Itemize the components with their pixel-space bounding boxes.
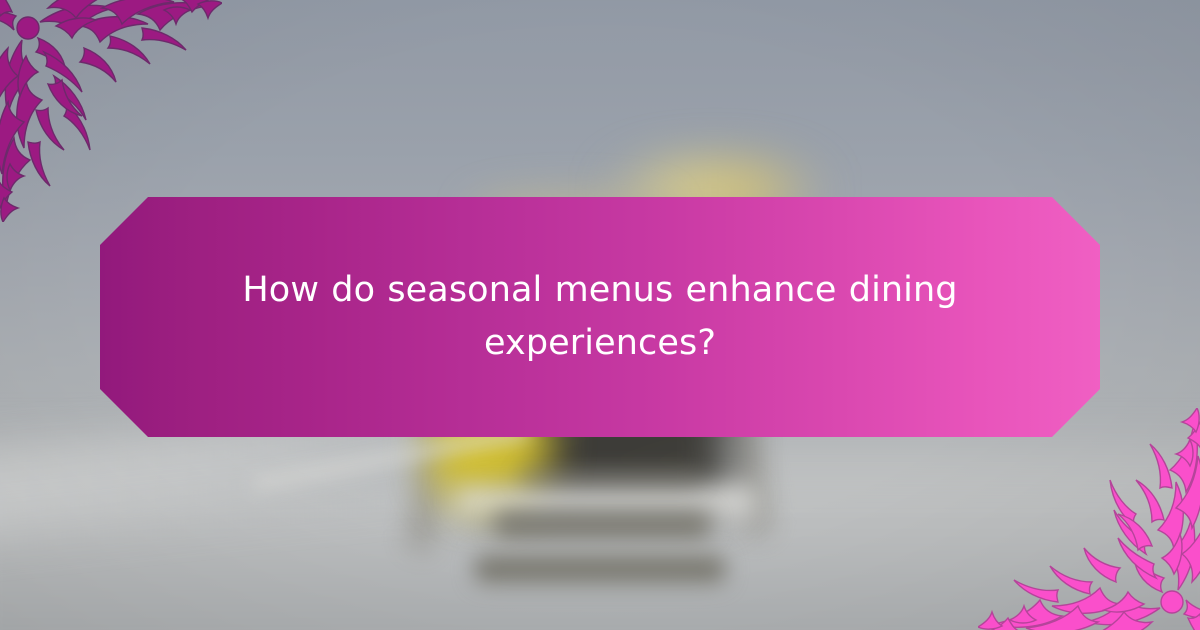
question-banner: How do seasonal menus enhance dining exp… [100, 197, 1100, 437]
banner-title: How do seasonal menus enhance dining exp… [220, 264, 980, 370]
question-card: How do seasonal menus enhance dining exp… [0, 0, 1200, 630]
